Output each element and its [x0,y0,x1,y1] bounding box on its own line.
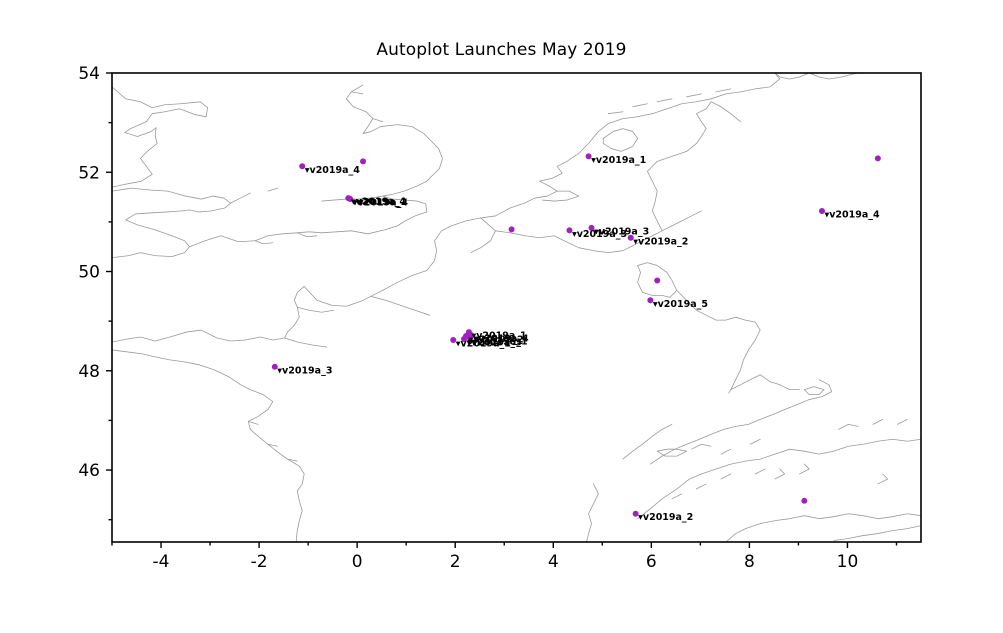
data-point[interactable] [509,226,515,232]
coastline-germany-north-coast [809,73,858,79]
x-tick-label: 0 [352,552,363,572]
plot-frame [112,73,921,542]
y-tick-label: 54 [78,64,100,84]
y-tick-label: 50 [78,263,100,283]
coastline-uk-interior-faint [231,188,278,203]
x-tick-label: 8 [744,552,755,572]
coastline-french-interior-faint [285,338,327,347]
coastline-france-rhone [587,484,599,542]
data-point-label: ▾v2019a_4 [824,209,880,220]
coastline-germany-rivers [731,375,800,390]
x-tick-label: 10 [837,552,859,572]
y-tick-label: 52 [78,163,100,183]
coastline-lake-constance [804,387,824,395]
coastline-ijsselmeer [603,129,637,152]
coastline-benelux-coast [495,73,779,216]
data-point[interactable] [360,158,366,164]
coastline-italy-north [726,514,921,542]
data-point-label: ▾v2019a_4 [305,165,361,176]
coastline-layer [82,73,921,542]
coastline-italy-coast-east [834,526,921,541]
coastline-jura-interior [623,424,672,459]
data-point-label: ▾v2019a_2 [638,512,693,523]
coastline-po-valley-lakes [775,464,888,484]
data-point[interactable] [654,277,660,283]
x-tick-label: 6 [646,552,657,572]
coastline-normandy-inner [297,307,333,312]
coastline-geneva-lake [657,449,686,456]
x-tick-label: -4 [153,552,170,572]
data-point[interactable] [801,498,807,504]
coastline-north-france-border [471,231,496,253]
data-point-label: ▾v2019a_3 [467,338,522,349]
x-tick-label: 2 [450,552,461,572]
y-tick-label: 48 [78,362,100,382]
coastline-germany-central [711,102,740,122]
data-point-label: ▾v2019a_2 [633,236,688,247]
coastline-alpine-detail-b [839,419,908,429]
coastline-alpine-detail-a [692,439,761,454]
x-tick-label: -2 [251,552,268,572]
data-point[interactable] [875,155,881,161]
coastline-great-britain-south [112,87,208,187]
data-point-label: ▾v2019a_3 [277,365,332,376]
coastline-alps-valleys [672,469,765,499]
coastline-alps-ridge [638,439,921,518]
data-point-label: ▾v2019a_1 [591,155,646,166]
scatter-map-plot: ▾v2019a_4▾v2019a_4▾v2019a_1▾v2019a_4▾v20… [0,0,1003,633]
coastline-bay-detail [248,421,297,461]
x-tick-label: 4 [548,552,559,572]
coastline-seine-valley [371,296,430,315]
coastline-frisian-islands [608,89,731,114]
coastline-denmark-north [775,73,809,79]
axes-layer: -4-202468104648505254 [78,64,921,572]
coastline-rhine-valley [662,211,701,231]
y-tick-label: 46 [78,461,100,481]
figure-canvas: Autoplot Launches May 2019 ▾v2019a_4▾v20… [0,0,1003,633]
data-point-label: ▾v2019a_5 [653,299,708,310]
coastline-south-coast-detail [255,233,317,244]
data-labels-layer: ▾v2019a_4▾v2019a_4▾v2019a_1▾v2019a_4▾v20… [277,155,880,523]
coastline-north-sea-islands-uk [351,92,382,122]
data-point-label: ▾v2019a_4 [353,198,409,209]
coastline-wales-bristol-channel [112,188,231,257]
